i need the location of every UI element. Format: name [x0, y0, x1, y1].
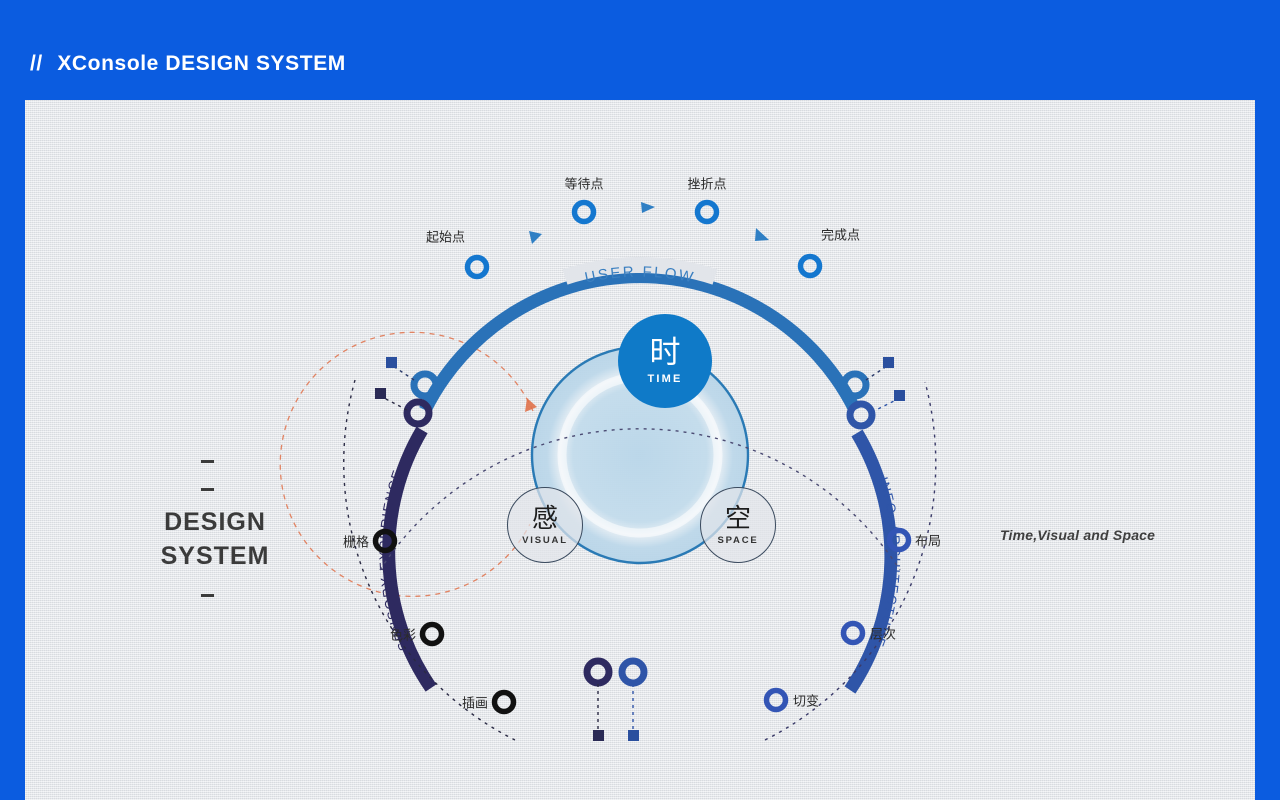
arc-terminator-sensory-top [407, 402, 429, 424]
node-label-info-arch-1: 布局 [915, 531, 941, 550]
connector-userflow-right [866, 366, 887, 380]
design-system-line2: SYSTEM [120, 539, 310, 573]
flow-arrow-2 [641, 202, 655, 213]
connector-userflow-left [393, 366, 414, 380]
core-visual-en: VISUAL [522, 535, 568, 546]
node-sensory-3[interactable] [495, 693, 514, 712]
core-space-cn: 空 [725, 505, 751, 532]
core-circle-space[interactable]: 空 SPACE [700, 487, 776, 563]
core-space-en: SPACE [717, 535, 758, 546]
square-marker-userflow-left [386, 357, 397, 368]
orange-arrow-head [525, 398, 537, 412]
node-label-user-flow-3: 挫折点 [687, 174, 726, 193]
node-user-flow-3[interactable] [698, 203, 717, 222]
node-label-sensory-1: 栅格 [343, 532, 369, 551]
square-marker-info-bottom [628, 730, 639, 741]
brand-title: // XConsole DESIGN SYSTEM [30, 52, 346, 76]
square-marker-info-top [894, 390, 905, 401]
node-label-user-flow-4: 完成点 [821, 225, 860, 244]
node-user-flow-1[interactable] [468, 258, 487, 277]
node-info-arch-2[interactable] [844, 624, 863, 643]
core-time-en: TIME [647, 373, 682, 385]
node-info-arch-3[interactable] [767, 691, 786, 710]
design-system-line1: DESIGN [120, 505, 310, 539]
node-user-flow-4[interactable] [801, 257, 820, 276]
node-label-user-flow-1: 起始点 [426, 227, 465, 246]
core-time-cn: 时 [650, 337, 681, 369]
node-label-info-arch-3: 切变 [793, 691, 819, 710]
core-circle-visual[interactable]: 感 VISUAL [507, 487, 583, 563]
content-panel: USER FLOW SENSORY EXPERIENCE INFO. ARCHI… [25, 100, 1255, 800]
node-label-sensory-3: 插画 [462, 693, 488, 712]
design-system-caption: DESIGN SYSTEM [120, 505, 310, 573]
radial-diagram: USER FLOW SENSORY EXPERIENCE INFO. ARCHI… [25, 100, 1255, 800]
flow-arrow-3 [755, 228, 769, 241]
arc-terminator-sensory-bottom [587, 661, 609, 683]
node-label-sensory-2: 色彩 [390, 625, 416, 644]
flow-arrow-1 [529, 231, 542, 244]
tagline-text: Time,Visual and Space [1000, 527, 1155, 543]
arc-info-architecture [850, 433, 891, 690]
diagram-stage: USER FLOW SENSORY EXPERIENCE INFO. ARCHI… [25, 100, 1255, 800]
core-circle-time[interactable]: 时 TIME [618, 314, 712, 408]
node-label-user-flow-2: 等待点 [564, 174, 603, 193]
square-marker-sensory-top [375, 388, 386, 399]
square-marker-userflow-right [883, 357, 894, 368]
arc-terminator-info-top [850, 404, 872, 426]
caption-tick-top [201, 460, 214, 463]
slide-root: // XConsole DESIGN SYSTEM [0, 0, 1280, 800]
arc-terminator-user-flow-end [844, 374, 866, 396]
node-user-flow-2[interactable] [575, 203, 594, 222]
brand-prefix: // [30, 52, 43, 75]
brand-name: XConsole DESIGN SYSTEM [57, 52, 346, 75]
node-sensory-2[interactable] [423, 625, 442, 644]
caption-tick-bottom [201, 594, 214, 597]
arc-terminator-user-flow-start [414, 374, 436, 396]
caption-tick-upper [201, 488, 214, 491]
core-visual-cn: 感 [532, 505, 558, 532]
arc-label-user-flow: USER FLOW [583, 264, 696, 287]
node-label-info-arch-2: 层次 [870, 624, 896, 643]
square-marker-sensory-bottom [593, 730, 604, 741]
arc-terminator-info-bottom [622, 661, 644, 683]
